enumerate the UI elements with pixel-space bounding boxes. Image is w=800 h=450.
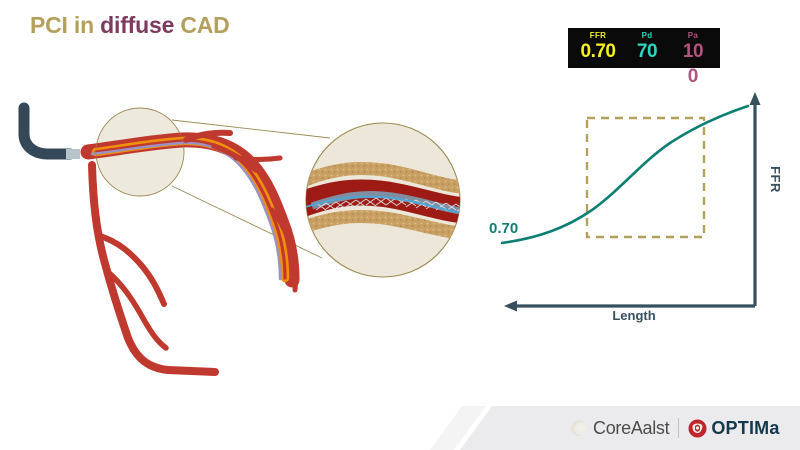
logo-optima[interactable]: OPTIMa	[688, 418, 779, 439]
guide-catheter	[24, 108, 80, 154]
monitor-value-pd: 70	[626, 41, 668, 63]
chart-start-value-label: 0.70	[489, 220, 518, 237]
coronary-artery-illustration	[0, 90, 490, 390]
coreaalst-swirl-icon	[568, 417, 590, 439]
monitor-channel-pa: Pa 10	[668, 28, 718, 68]
monitor-value-ffr: 0.70	[570, 41, 626, 63]
monitor-value-pa: 10	[668, 41, 718, 63]
ffr-pullback-curve	[502, 106, 748, 243]
title-part-2: diffuse	[100, 12, 174, 38]
diffuse-segment-highlight-box	[587, 118, 704, 237]
monitor-channel-ffr: FFR 0.70	[570, 28, 626, 68]
monitor-label-ffr: FFR	[570, 28, 626, 41]
ffr-pullback-chart	[480, 88, 800, 338]
logo-coreaalst[interactable]: CoreAalst	[568, 417, 669, 439]
monitor-label-pd: Pd	[626, 28, 668, 41]
monitor-channel-pd: Pd 70	[626, 28, 668, 68]
logo-divider	[678, 418, 679, 438]
page-title: PCI in diffuse CAD	[30, 12, 230, 39]
title-part-1: PCI in	[30, 12, 100, 38]
monitor-label-pa: Pa	[668, 28, 718, 41]
chart-y-axis-label: FFR	[768, 166, 783, 193]
title-part-3: CAD	[174, 12, 229, 38]
footer-logos: CoreAalst OPTIMa	[568, 414, 780, 442]
chart-x-axis-label: Length	[592, 308, 676, 323]
magnifier-circle-large	[300, 123, 470, 277]
chart-y-axis	[750, 92, 761, 306]
logo-optima-text: OPTIMa	[711, 418, 779, 439]
monitor-value-pa-overflow: 0	[668, 66, 718, 88]
optima-emblem-icon	[688, 419, 707, 438]
slide-canvas: PCI in diffuse CAD	[0, 0, 800, 450]
ffr-monitor-display: FFR 0.70 Pd 70 Pa 10	[568, 28, 720, 68]
logo-coreaalst-text: CoreAalst	[593, 418, 669, 439]
